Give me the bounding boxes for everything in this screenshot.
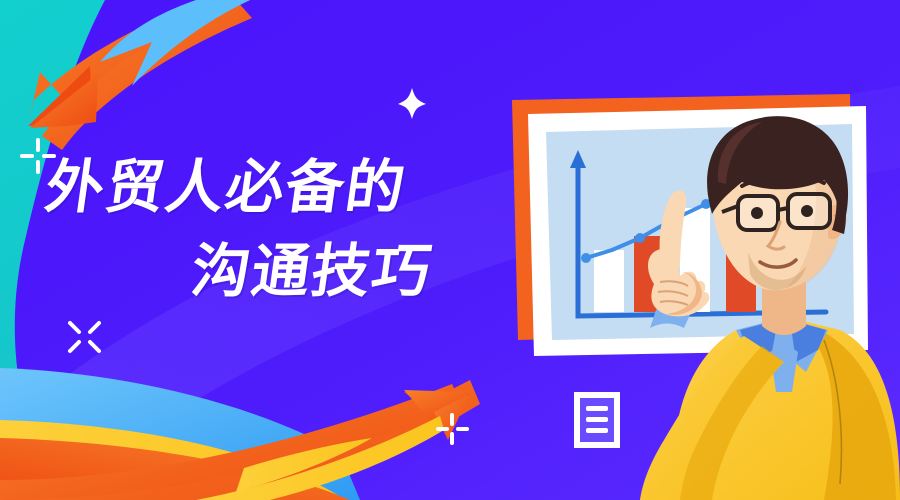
sparkle-layer — [0, 0, 900, 500]
sparkle-plus-center — [438, 415, 467, 443]
sparkle-plus-left — [22, 140, 54, 172]
sparkle-star-top — [398, 88, 426, 119]
sparkle-cross-bottom-left — [70, 323, 99, 351]
marketing-banner: 外贸人必备的 沟通技巧 — [0, 0, 900, 500]
